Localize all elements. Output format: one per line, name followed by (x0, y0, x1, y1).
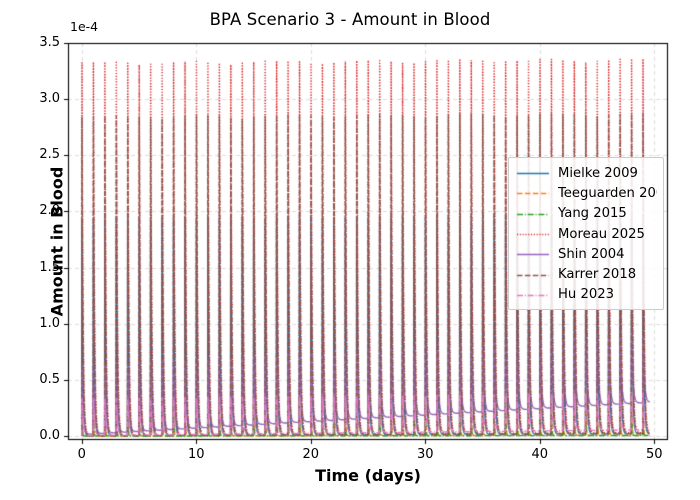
legend-line-swatch (516, 207, 550, 221)
legend-item-label: Karrer 2018 (558, 267, 636, 282)
legend-line-swatch (516, 288, 550, 302)
legend-item-label: Shin 2004 (558, 247, 625, 262)
legend-item-label: Teeguarden 2005 (558, 186, 657, 201)
legend-item-hu-2023[interactable]: Hu 2023 (516, 285, 657, 305)
legend-item-label: Hu 2023 (558, 287, 614, 302)
legend-item-label: Yang 2015 (558, 206, 627, 221)
legend-item-label: Mielke 2009 (558, 166, 638, 181)
matplotlib-figure: BPA Scenario 3 - Amount in Blood 1e-4 Ti… (0, 0, 700, 500)
legend-item-mielke-2009[interactable]: Mielke 2009 (516, 163, 657, 183)
legend-line-swatch (516, 166, 550, 180)
legend-item-label: Moreau 2025 (558, 227, 645, 242)
legend-item-shin-2004[interactable]: Shin 2004 (516, 244, 657, 264)
legend-item-karrer-2018[interactable]: Karrer 2018 (516, 264, 657, 284)
legend-line-swatch (516, 247, 550, 261)
legend-item-teeguarden-2005[interactable]: Teeguarden 2005 (516, 183, 657, 203)
legend-item-moreau-2025[interactable]: Moreau 2025 (516, 224, 657, 244)
legend-line-swatch (516, 227, 550, 241)
legend-item-yang-2015[interactable]: Yang 2015 (516, 204, 657, 224)
legend-line-swatch (516, 186, 550, 200)
legend-line-swatch (516, 268, 550, 282)
chart-legend[interactable]: Mielke 2009Teeguarden 2005Yang 2015Morea… (508, 157, 664, 310)
